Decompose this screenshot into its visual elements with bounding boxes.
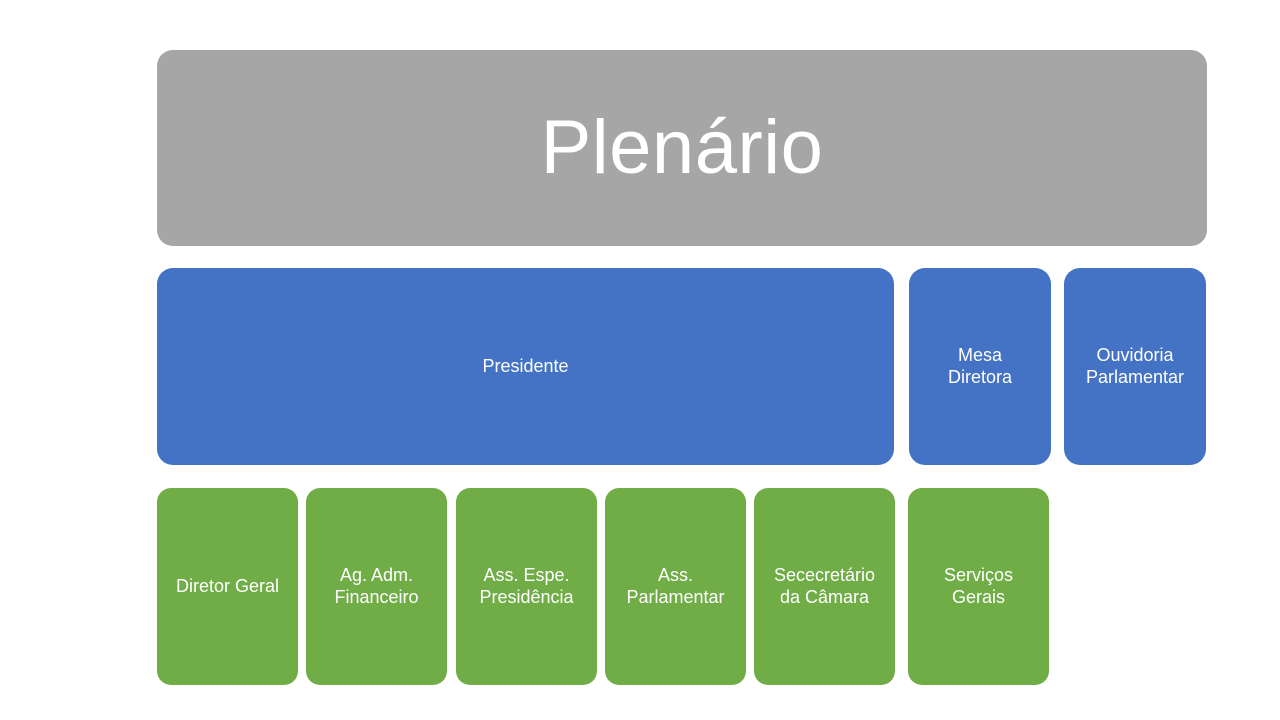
node-mesa-diretora-label: Mesa Diretora	[946, 345, 1014, 389]
node-ag-adm-financeiro[interactable]: Ag. Adm. Financeiro	[306, 488, 447, 685]
organizational-chart: Plenário Presidente Mesa Diretora Ouvido…	[0, 0, 1280, 720]
node-ag-adm-financeiro-label: Ag. Adm. Financeiro	[332, 565, 420, 609]
node-plenario-label: Plenário	[539, 102, 826, 195]
node-diretor-geral-label: Diretor Geral	[157, 576, 298, 598]
node-presidente[interactable]: Presidente	[157, 268, 894, 465]
node-ass-espe-presidencia[interactable]: Ass. Espe. Presidência	[456, 488, 597, 685]
node-ass-parlamentar[interactable]: Ass. Parlamentar	[605, 488, 746, 685]
node-sececretario-da-camara[interactable]: Sececretário da Câmara	[754, 488, 895, 685]
node-ass-espe-presidencia-label: Ass. Espe. Presidência	[456, 565, 597, 609]
node-ass-parlamentar-label: Ass. Parlamentar	[605, 565, 746, 609]
node-ouvidoria-parlamentar[interactable]: Ouvidoria Parlamentar	[1064, 268, 1206, 465]
node-sececretario-da-camara-label: Sececretário da Câmara	[754, 565, 895, 609]
node-presidente-label: Presidente	[480, 356, 570, 378]
node-mesa-diretora[interactable]: Mesa Diretora	[909, 268, 1051, 465]
node-diretor-geral[interactable]: Diretor Geral	[157, 488, 298, 685]
node-servicos-gerais[interactable]: Serviços Gerais	[908, 488, 1049, 685]
node-ouvidoria-parlamentar-label: Ouvidoria Parlamentar	[1064, 345, 1206, 389]
node-servicos-gerais-label: Serviços Gerais	[942, 565, 1015, 609]
node-plenario[interactable]: Plenário	[157, 50, 1207, 246]
